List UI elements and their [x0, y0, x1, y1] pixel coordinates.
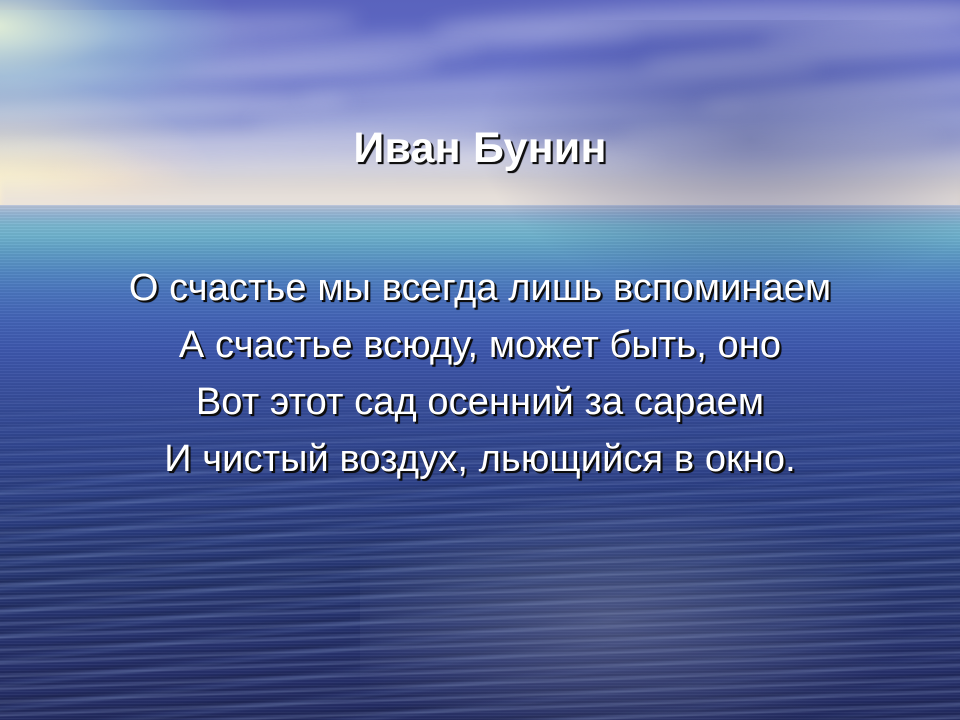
poem-line: Вот этот сад осенний за сараем	[0, 374, 960, 431]
poem-block: О счастье мы всегда лишь вспоминаем А сч…	[0, 260, 960, 488]
poem-line: А счастье всюду, может быть, оно	[0, 317, 960, 374]
slide-text-layer: Иван Бунин О счастье мы всегда лишь вспо…	[0, 0, 960, 720]
presentation-slide: Иван Бунин О счастье мы всегда лишь вспо…	[0, 0, 960, 720]
slide-title: Иван Бунин	[0, 126, 960, 171]
poem-line: О счастье мы всегда лишь вспоминаем	[0, 260, 960, 317]
poem-line: И чистый воздух, льющийся в окно.	[0, 431, 960, 488]
